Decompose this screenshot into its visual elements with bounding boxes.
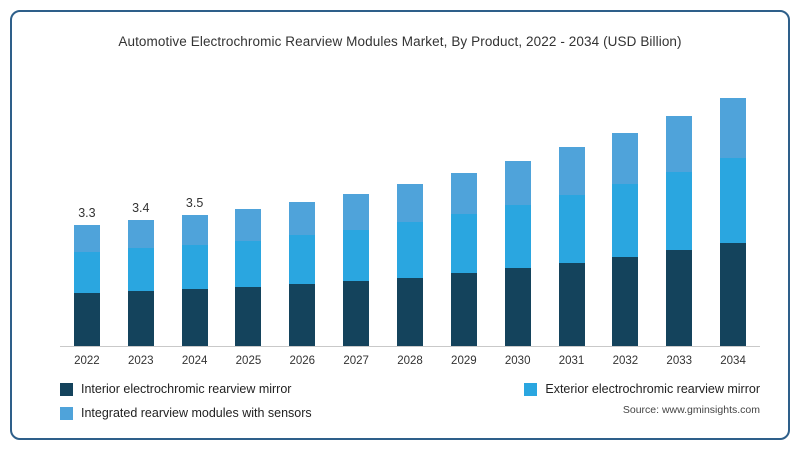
x-tick-label: 2029 (434, 355, 494, 367)
bar-segment[interactable] (182, 215, 208, 245)
x-tick-label: 2034 (703, 355, 763, 367)
bar-segment[interactable] (559, 147, 585, 195)
bar-segment[interactable] (235, 209, 261, 241)
bar-segment[interactable] (666, 116, 692, 172)
bar-segment[interactable] (289, 202, 315, 235)
bar-group[interactable] (505, 161, 531, 347)
bar-segment[interactable] (666, 250, 692, 346)
bar-segment[interactable] (451, 173, 477, 214)
legend-swatch-exterior (524, 383, 537, 396)
bar-segment[interactable] (451, 273, 477, 346)
bar-segment[interactable] (397, 278, 423, 346)
bar-segment[interactable] (612, 184, 638, 257)
bar-segment[interactable] (128, 291, 154, 346)
x-tick-label: 2031 (542, 355, 602, 367)
x-tick-label: 2026 (272, 355, 332, 367)
x-tick-label: 2025 (218, 355, 278, 367)
legend-label-interior: Interior electrochromic rearview mirror (81, 382, 291, 396)
bar-segment[interactable] (128, 220, 154, 249)
bar-group[interactable] (666, 116, 692, 346)
bar-segment[interactable] (343, 281, 369, 346)
bar-segment[interactable] (235, 287, 261, 346)
x-tick-label: 2024 (165, 355, 225, 367)
legend-item-interior: Interior electrochromic rearview mirror (60, 382, 291, 396)
bar-segment[interactable] (182, 289, 208, 346)
bar-group[interactable] (289, 202, 315, 346)
bar-segment[interactable] (612, 133, 638, 185)
bar-segment[interactable] (451, 214, 477, 273)
x-tick-label: 2033 (649, 355, 709, 367)
bar-value-label: 3.5 (165, 196, 225, 210)
chart-legend: Interior electrochromic rearview mirror … (60, 377, 760, 425)
x-tick-label: 2030 (488, 355, 548, 367)
bar-group[interactable] (235, 209, 261, 346)
legend-label-exterior: Exterior electrochromic rearview mirror (545, 382, 760, 396)
bar-segment[interactable] (74, 252, 100, 292)
bar-segment[interactable] (720, 243, 746, 346)
legend-swatch-integrated (60, 407, 73, 420)
x-tick-label: 2022 (57, 355, 117, 367)
x-axis-line (60, 346, 760, 347)
bar-segment[interactable] (397, 184, 423, 222)
bar-segment[interactable] (505, 205, 531, 268)
source-note: Source: www.gminsights.com (623, 404, 760, 416)
bar-segment[interactable] (612, 257, 638, 346)
x-tick-label: 2032 (595, 355, 655, 367)
bar-segment[interactable] (720, 158, 746, 243)
chart-title: Automotive Electrochromic Rearview Modul… (12, 34, 788, 49)
bar-group[interactable] (720, 98, 746, 346)
bar-group[interactable] (612, 133, 638, 346)
x-tick-label: 2027 (326, 355, 386, 367)
bar-segment[interactable] (343, 194, 369, 230)
bar-segment[interactable] (397, 222, 423, 277)
bar-segment[interactable] (74, 293, 100, 346)
bar-group[interactable] (451, 173, 477, 346)
bar-segment[interactable] (235, 241, 261, 287)
legend-item-exterior: Exterior electrochromic rearview mirror (524, 382, 760, 396)
bar-segment[interactable] (182, 245, 208, 289)
x-tick-label: 2023 (111, 355, 171, 367)
bar-segment[interactable] (666, 172, 692, 251)
bar-group[interactable] (74, 225, 100, 346)
bar-segment[interactable] (289, 235, 315, 284)
bar-segment[interactable] (343, 230, 369, 282)
bar-segment[interactable] (720, 98, 746, 159)
bar-group[interactable] (559, 147, 585, 346)
bar-segment[interactable] (74, 225, 100, 253)
chart-frame: Automotive Electrochromic Rearview Modul… (10, 10, 790, 440)
bar-segment[interactable] (559, 195, 585, 263)
bar-value-label: 3.4 (111, 201, 171, 215)
legend-row-1: Interior electrochromic rearview mirror … (60, 377, 760, 401)
legend-item-integrated: Integrated rearview modules with sensors (60, 406, 312, 420)
bar-segment[interactable] (505, 268, 531, 346)
bar-segment[interactable] (128, 248, 154, 290)
bar-group[interactable] (397, 184, 423, 346)
x-tick-label: 2028 (380, 355, 440, 367)
bar-group[interactable] (343, 194, 369, 346)
legend-swatch-interior (60, 383, 73, 396)
bar-group[interactable] (182, 215, 208, 346)
bar-segment[interactable] (505, 161, 531, 205)
legend-label-integrated: Integrated rearview modules with sensors (81, 406, 312, 420)
bar-segment[interactable] (289, 284, 315, 346)
bar-segment[interactable] (559, 263, 585, 346)
bar-value-label: 3.3 (57, 206, 117, 220)
bar-group[interactable] (128, 220, 154, 346)
